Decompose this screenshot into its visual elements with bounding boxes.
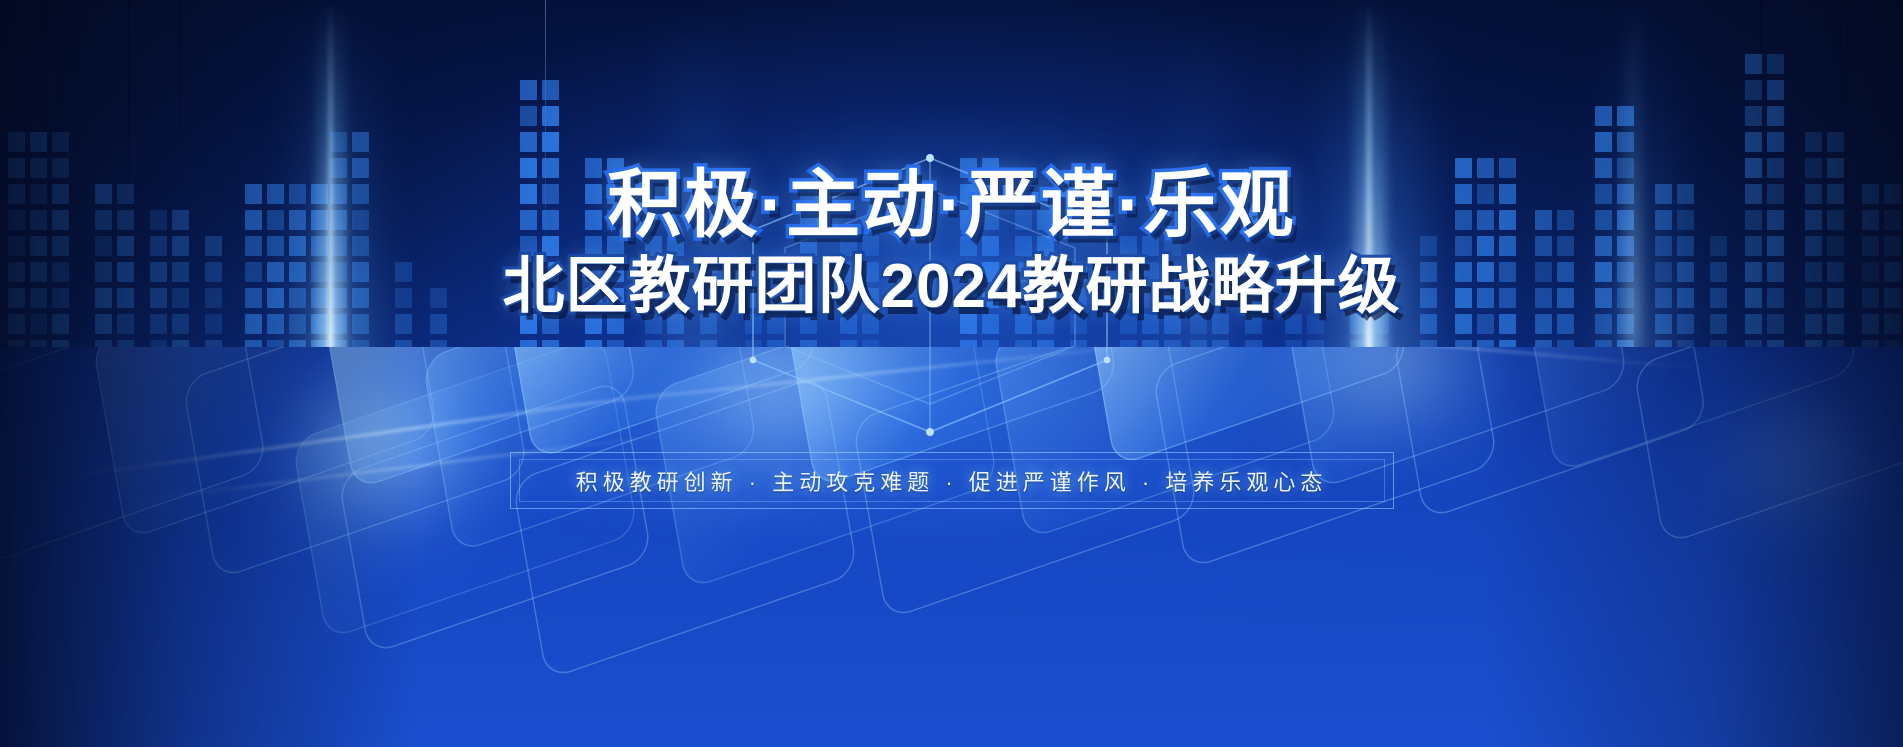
headline: 积极·主动·严谨·乐观 — [608, 168, 1296, 242]
floor-shade-left — [0, 347, 420, 747]
banner-stage: 积极·主动·严谨·乐观 北区教研团队2024教研战略升级 积极教研创新 · 主动… — [0, 0, 1903, 747]
title-block: 积极·主动·严谨·乐观 北区教研团队2024教研战略升级 — [0, 168, 1903, 318]
floor-shade-right — [1483, 347, 1903, 747]
tagline-text: 积极教研创新 · 主动攻克难题 · 促进严谨作风 · 培养乐观心态 — [576, 465, 1328, 497]
tagline-bar: 积极教研创新 · 主动攻克难题 · 促进严谨作风 · 培养乐观心态 — [510, 452, 1394, 509]
sub-headline: 北区教研团队2024教研战略升级 — [503, 256, 1401, 318]
